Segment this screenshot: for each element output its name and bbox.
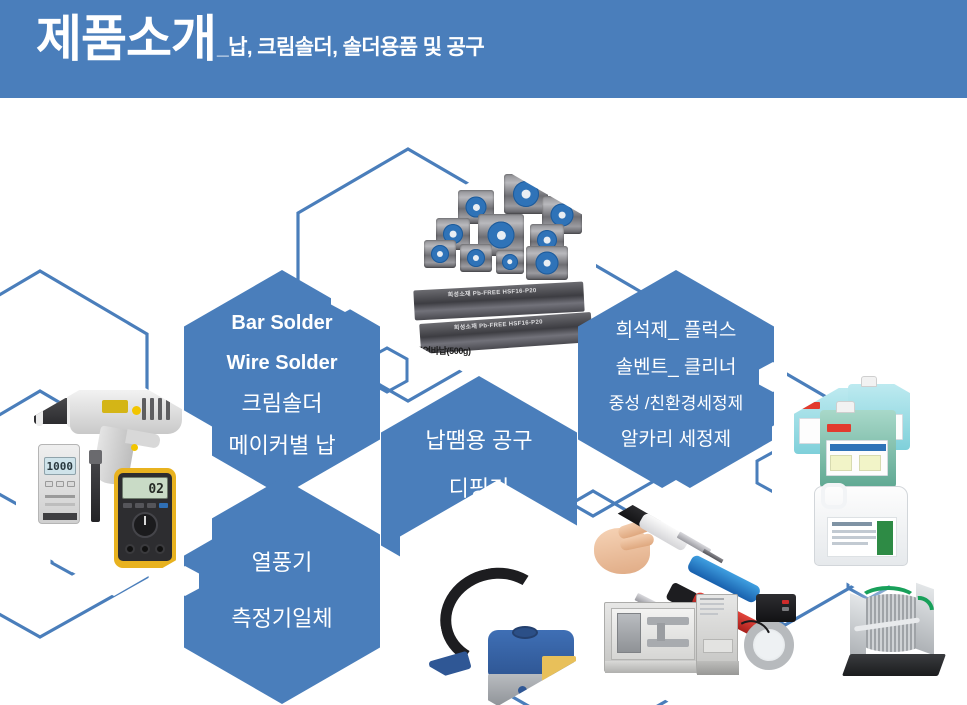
solder-product-photo: 희성소재 Pb-FREE HSF16-P20 희성소재 Pb-FREE HSF1… — [400, 166, 596, 392]
solder-spool — [424, 240, 456, 268]
equipment-photo — [596, 576, 796, 705]
hexagon-solder-photo[interactable]: 희성소재 Pb-FREE HSF16-P20 희성소재 Pb-FREE HSF1… — [400, 166, 596, 392]
solder-spool — [526, 246, 568, 280]
digital-meter-reading: 1000 — [47, 458, 74, 475]
tape-dispenser — [826, 566, 967, 705]
tape-dispenser-photo[interactable] — [826, 566, 967, 705]
fume-extractor-photo — [400, 480, 596, 705]
title-block: 제품소개 _납, 크림솔더, 솔더용품 및 공구 — [36, 8, 484, 70]
hexagon-equipment-photo[interactable] — [596, 576, 796, 705]
bar-solder-print: 희성소재 Pb-FREE HSF16-P20 — [448, 288, 537, 300]
extractor-base — [488, 674, 574, 705]
hexagon-shape — [772, 370, 967, 596]
ring-light-base — [756, 594, 796, 622]
solder-spool — [496, 250, 524, 274]
extractor-nozzle — [428, 651, 471, 679]
page-subtitle: _납, 크림솔더, 솔더용품 및 공구 — [217, 31, 484, 61]
chemical-containers-photo — [772, 370, 967, 596]
honeycomb-diagram: 희성소재 Pb-FREE HSF16-P20 희성소재 Pb-FREE HSF1… — [0, 98, 967, 705]
chemical-container — [820, 410, 896, 488]
hexagon-chemicals[interactable]: 희석제_ 플럭스 솔벤트_ 클리너 중성 /친환경세정제 알카리 세정제 — [578, 270, 774, 496]
digital-multimeter: 02 — [114, 468, 176, 568]
solder-photo-caption: 무연바납(500g) — [415, 344, 471, 357]
hexagon-shape — [578, 270, 774, 496]
multimeter-reading: 02 — [148, 479, 164, 500]
hexagon-chemicals-photo[interactable] — [772, 370, 967, 596]
chemical-jug — [814, 486, 908, 566]
hexagon-shape: 1000 02 — [16, 370, 212, 596]
hexagon-shape: 희성소재 Pb-FREE HSF16-P20 희성소재 Pb-FREE HSF1… — [400, 166, 596, 392]
page-title: 제품소개 — [36, 8, 216, 70]
hexagon-shape — [400, 480, 596, 705]
hexagon-shape — [184, 478, 380, 704]
hexagon-solder-materials[interactable]: Bar Solder Wire Solder 크림솔더 메이커별 납 — [184, 270, 380, 496]
solder-spool — [460, 244, 492, 272]
hexagon-measuring-photo[interactable]: 1000 02 — [16, 370, 212, 596]
hexagon-fume-extractor-photo[interactable] — [400, 480, 596, 705]
digital-meter: 1000 — [38, 444, 80, 524]
hexagon-heat-gun-measuring[interactable]: 열풍기 측정기일체 — [184, 478, 380, 704]
dispenser-base — [842, 654, 946, 676]
bar-solder-print: 희성소재 Pb-FREE HSF16-P20 — [454, 320, 543, 333]
measuring-tools-photo: 1000 02 — [16, 370, 212, 596]
header-band: 제품소개 _납, 크림솔더, 솔더용품 및 공구 — [0, 0, 967, 98]
